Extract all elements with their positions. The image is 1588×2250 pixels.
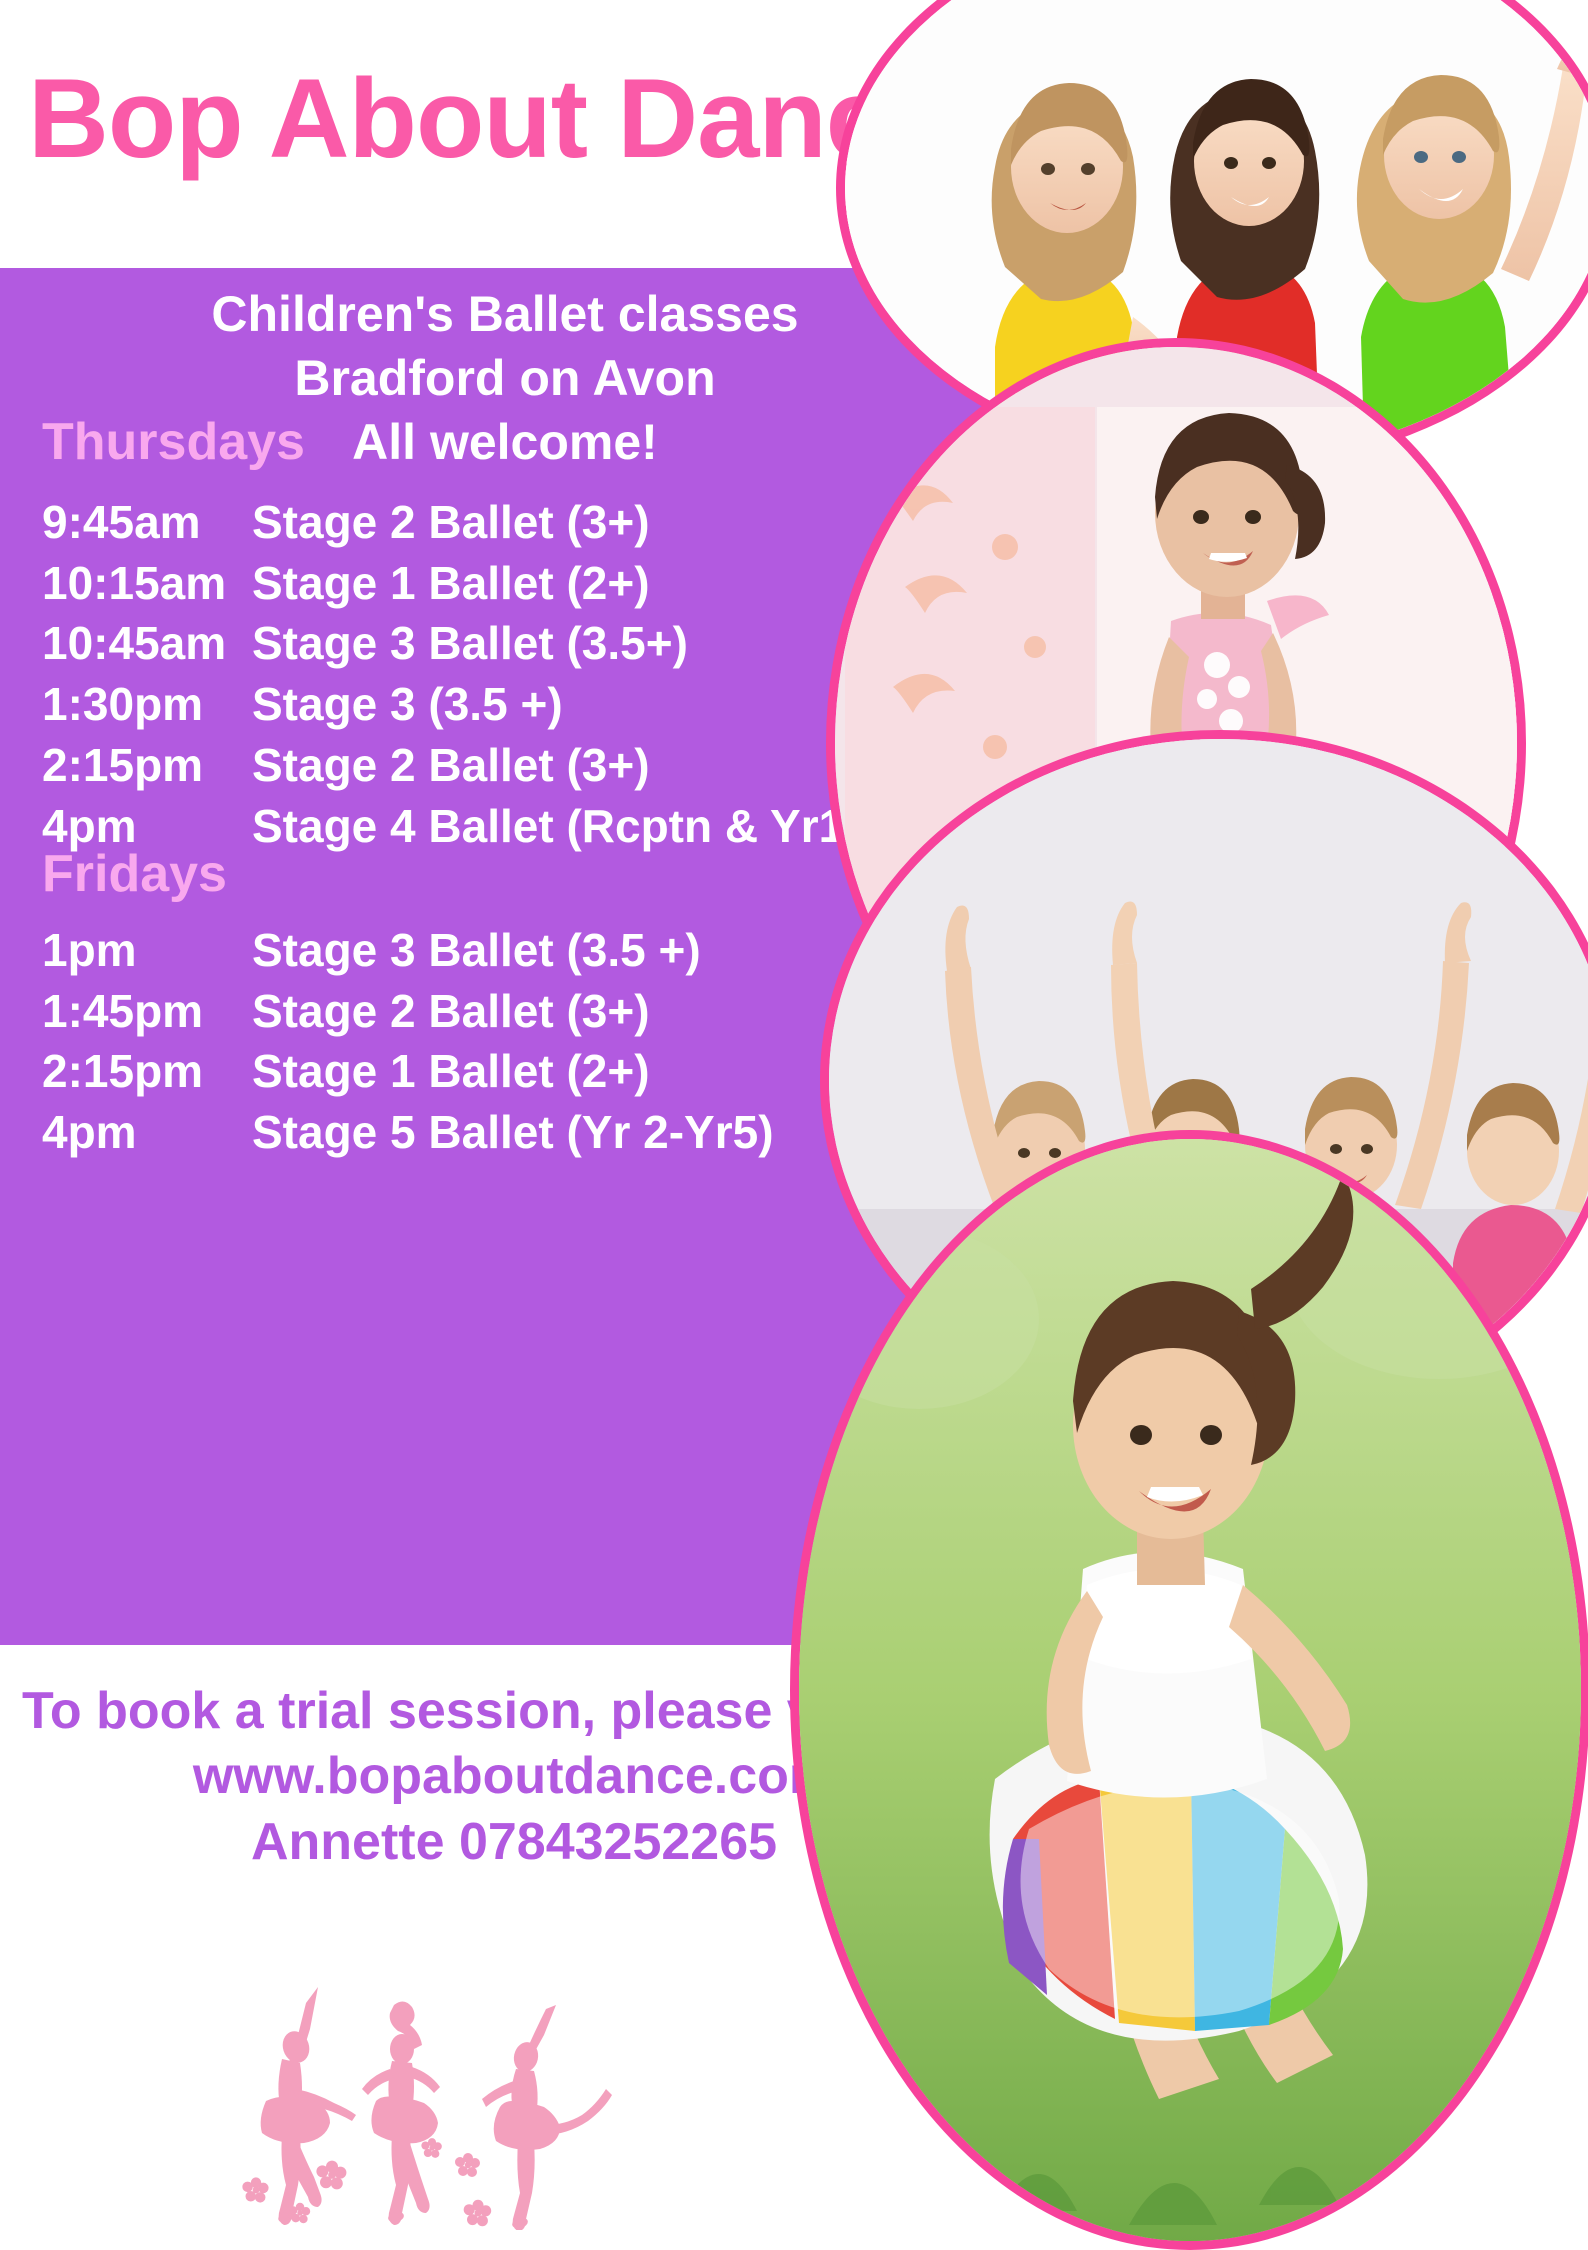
class-time: 10:15am (42, 553, 252, 614)
class-time: 4pm (42, 1102, 252, 1163)
class-time: 1:45pm (42, 981, 252, 1042)
class-time: 10:45am (42, 613, 252, 674)
class-time: 1:30pm (42, 674, 252, 735)
page-title: Bop About Dance (28, 60, 948, 178)
fridays-heading: Fridays (42, 848, 227, 900)
thursdays-heading: Thursdays (42, 416, 305, 468)
class-time: 9:45am (42, 492, 252, 553)
girl-in-rainbow-tutu-photo (790, 1130, 1588, 2250)
class-time: 2:15pm (42, 735, 252, 796)
class-time: 2:15pm (42, 1041, 252, 1102)
class-time: 1pm (42, 920, 252, 981)
rainbow-tutu-illustration (799, 1139, 1588, 2250)
ballerina-silhouettes (210, 1985, 630, 2230)
ballerina-silhouette-icon (210, 1985, 630, 2230)
